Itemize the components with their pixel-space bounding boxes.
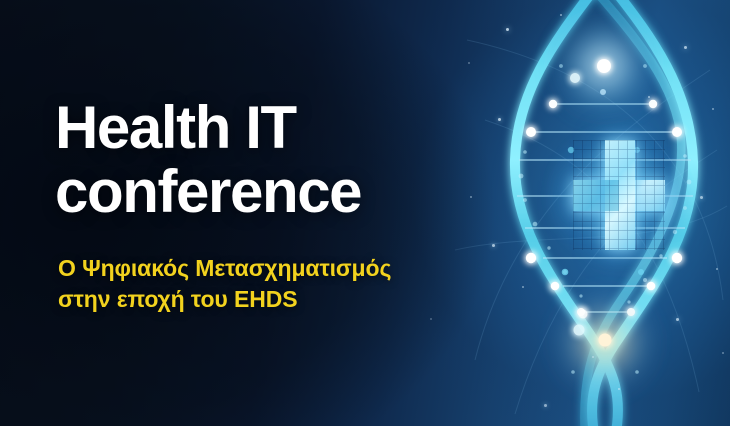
page-title: Health IT conference (55, 96, 475, 223)
page-subtitle: Ο Ψηφιακός Μετασχηματισμός στην εποχή το… (58, 253, 478, 314)
health-it-conference-banner: Health IT conference Ο Ψηφιακός Μετασχημ… (0, 0, 730, 426)
